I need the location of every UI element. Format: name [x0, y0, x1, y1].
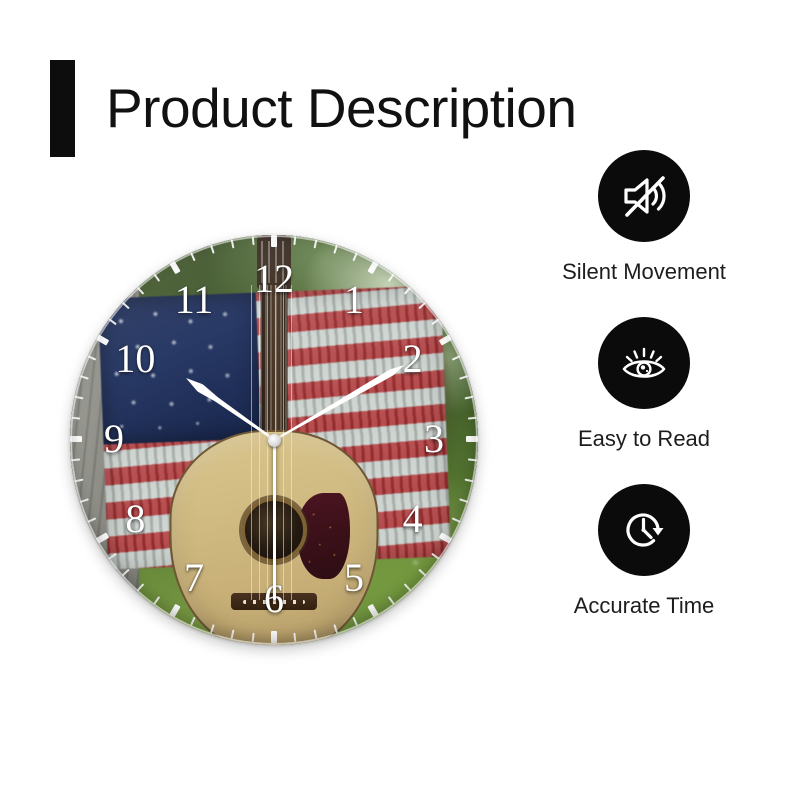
clock-tick-hour: [96, 334, 109, 345]
clock-tick-minute: [80, 498, 89, 503]
clock-history-icon: [598, 484, 690, 576]
clock-tick-minute: [314, 630, 318, 639]
clock-tick-hour: [367, 261, 378, 274]
clock-numeral: 3: [424, 419, 444, 459]
clock-tick-minute: [352, 252, 357, 261]
clock-tick-minute: [137, 583, 145, 591]
clock-tick-minute: [231, 239, 235, 248]
clock-tick-minute: [404, 583, 412, 591]
clock-tick-minute: [418, 302, 426, 310]
clock-tick-hour: [169, 261, 180, 274]
clock-tick-minute: [388, 596, 395, 604]
clock-tick-minute: [231, 630, 235, 639]
clock-tick-minute: [210, 245, 215, 254]
clock-tick-minute: [74, 479, 83, 483]
clock-face: 121234567891011: [70, 235, 478, 645]
clock-tick-minute: [293, 633, 296, 642]
clock-tick-minute: [452, 355, 461, 360]
feature-label: Silent Movement: [562, 259, 726, 285]
title-accent-bar: [50, 60, 75, 157]
clock-tick-minute: [108, 553, 116, 560]
clock-tick-minute: [418, 569, 426, 577]
clock-numeral: 7: [184, 558, 204, 598]
clock-tick-minute: [210, 624, 215, 633]
clock-tick-minute: [404, 287, 412, 295]
clock-tick-minute: [388, 273, 395, 281]
clock-tick-minute: [352, 617, 357, 626]
feature-label: Accurate Time: [574, 593, 715, 619]
clock-tick-minute: [333, 245, 338, 254]
feature-silent-movement: Silent Movement: [510, 150, 778, 285]
feature-label: Easy to Read: [578, 426, 710, 452]
clock-tick-minute: [252, 236, 255, 245]
clock-tick-minute: [137, 287, 145, 295]
clock-tick-minute: [333, 624, 338, 633]
clock-tick-minute: [465, 396, 474, 400]
clock-second-hand: [273, 440, 276, 600]
clock-tick-minute: [431, 318, 439, 325]
clock-tick-minute: [468, 417, 477, 420]
clock-tick-minute: [71, 417, 80, 420]
clock-tick-hour: [96, 532, 109, 543]
clock-tick-minute: [87, 355, 96, 360]
clock-numeral: 8: [125, 499, 145, 539]
clock-tick-minute: [431, 553, 439, 560]
clock-tick-minute: [87, 517, 96, 522]
clock-tick-minute: [452, 517, 461, 522]
clock-numeral: 9: [104, 419, 124, 459]
feature-list: Silent Movement Easy to Read: [510, 150, 778, 651]
clock-tick-minute: [459, 375, 468, 380]
clock-tick-minute: [71, 458, 80, 461]
clock-tick-hour: [70, 436, 82, 442]
clock-tick-minute: [153, 596, 160, 604]
clock-tick-minute: [252, 633, 255, 642]
clock-numeral: 11: [175, 280, 214, 320]
muted-speaker-icon: [598, 150, 690, 242]
clock-tick-minute: [293, 236, 296, 245]
clock-numeral: 4: [403, 499, 423, 539]
clock-tick-hour: [271, 631, 277, 643]
clock-tick-hour: [439, 532, 452, 543]
clock-tick-hour: [466, 436, 478, 442]
clock-center-cap: [268, 434, 281, 447]
clock-tick-minute: [108, 318, 116, 325]
clock-tick-hour: [169, 604, 180, 617]
page-header: Product Description: [50, 58, 576, 158]
clock-numeral: 2: [403, 339, 423, 379]
clock-tick-minute: [153, 273, 160, 281]
clock-numeral: 1: [344, 280, 364, 320]
clock-tick-hour: [271, 235, 277, 247]
clock-tick-minute: [190, 617, 195, 626]
clock-tick-minute: [190, 252, 195, 261]
feature-accurate-time: Accurate Time: [510, 484, 778, 619]
eye-icon: [598, 317, 690, 409]
clock-numeral: 5: [344, 558, 364, 598]
clock-tick-minute: [122, 569, 130, 577]
clock-tick-minute: [80, 375, 89, 380]
clock-tick-minute: [468, 458, 477, 461]
clock-numeral: 12: [254, 259, 294, 299]
product-image-clock: 121234567891011: [70, 235, 478, 645]
clock-tick-minute: [74, 396, 83, 400]
clock-tick-minute: [314, 239, 318, 248]
clock-tick-minute: [459, 498, 468, 503]
feature-easy-to-read: Easy to Read: [510, 317, 778, 452]
clock-tick-hour: [439, 334, 452, 345]
clock-numeral: 10: [115, 339, 155, 379]
clock-tick-minute: [465, 479, 474, 483]
clock-tick-minute: [122, 302, 130, 310]
page-title: Product Description: [106, 81, 576, 136]
clock-tick-hour: [367, 604, 378, 617]
